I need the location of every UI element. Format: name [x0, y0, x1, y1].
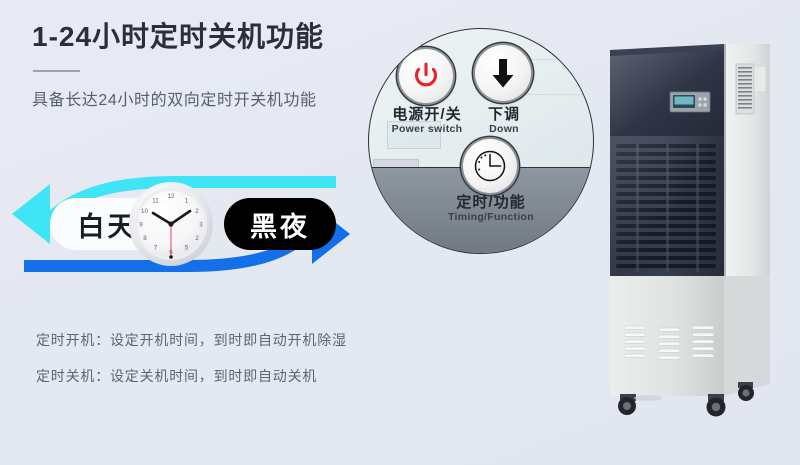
feature-bullet-list: 定时开机：设定开机时间，到时即自动开机除湿 定时关机：设定关机时间，到时即自动关… [36, 330, 347, 402]
timing-function-label-cn: 定时/功能 [447, 195, 535, 211]
power-switch-label-cn: 电源开/关 [373, 107, 481, 123]
product-image [596, 26, 792, 426]
list-item: 定时关机：设定关机时间，到时即自动关机 [36, 366, 347, 386]
list-item: 定时开机：设定开机时间，到时即自动开机除湿 [36, 330, 347, 350]
timing-function-label-en: Timing/Function [447, 212, 535, 223]
down-button[interactable] [475, 45, 531, 101]
control-panel-circle: 电源开/关 Power switch 下调 Down 定时/功能 Timing/… [368, 28, 594, 254]
night-pill: 黑夜 [224, 198, 336, 250]
caster-wheel [707, 394, 726, 417]
down-label-cn: 下调 [473, 107, 535, 123]
page-title: 1-24小时定时关机功能 [32, 22, 324, 53]
power-switch-label-en: Power switch [373, 124, 481, 135]
promo-banner: 1-24小时定时关机功能 具备长达24小时的双向定时开关机功能 白天 黑夜 [0, 0, 800, 465]
svg-text:2: 2 [195, 208, 199, 215]
timing-function-label: 定时/功能 Timing/Function [447, 195, 535, 223]
svg-text:8: 8 [143, 235, 147, 242]
svg-text:5: 5 [185, 245, 189, 252]
control-panel-callout: 电源开/关 Power switch 下调 Down 定时/功能 Timing/… [368, 28, 594, 254]
power-icon [411, 61, 441, 91]
svg-text:11: 11 [152, 198, 159, 205]
svg-text:12: 12 [168, 193, 175, 200]
svg-text:3: 3 [199, 222, 203, 229]
timing-function-button[interactable] [463, 139, 517, 193]
svg-text:1: 1 [185, 198, 189, 205]
night-label: 黑夜 [250, 205, 310, 244]
caster-wheel [618, 394, 636, 415]
svg-text:2: 2 [195, 235, 199, 242]
title-divider [33, 70, 80, 72]
page-subtitle: 具备长达24小时的双向定时开关机功能 [32, 86, 317, 110]
svg-text:10: 10 [141, 208, 148, 215]
arrow-down-icon [488, 56, 518, 90]
clock-icon [471, 147, 509, 185]
caster-wheel [738, 382, 754, 401]
svg-text:7: 7 [154, 245, 158, 252]
power-switch-label: 电源开/关 Power switch [373, 107, 481, 135]
svg-text:9: 9 [139, 222, 143, 229]
down-label: 下调 Down [473, 107, 535, 135]
analog-clock-icon: 12 1 2 3 2 5 6 7 8 9 10 11 [128, 174, 214, 274]
power-switch-button[interactable] [399, 49, 453, 103]
down-label-en: Down [473, 124, 535, 135]
